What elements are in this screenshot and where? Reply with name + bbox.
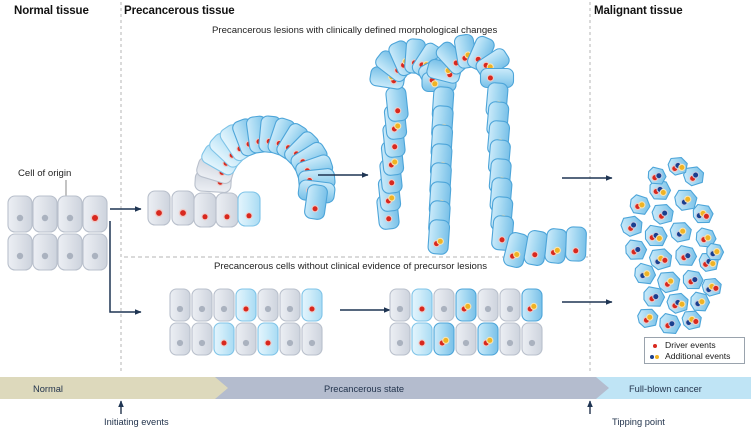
normal-cell xyxy=(83,234,107,270)
driver-event-dot xyxy=(310,307,315,312)
epithelial-cell xyxy=(412,289,432,321)
epithelial-cell xyxy=(390,323,410,355)
tumour-cell xyxy=(674,189,697,210)
additional-event-dot xyxy=(465,304,470,309)
epithelial-cell xyxy=(478,289,498,321)
nucleus xyxy=(287,340,293,346)
driver-event-dot xyxy=(266,341,271,346)
tumour-cell xyxy=(628,194,652,216)
normal-cell xyxy=(58,234,82,270)
tumour-cell xyxy=(644,225,668,247)
driver-event-dot xyxy=(488,76,493,81)
marker-label-tipping-point: Tipping point xyxy=(612,417,665,427)
epithelial-cell xyxy=(523,230,549,267)
driver-event-dot xyxy=(225,214,230,219)
epithelial-cell xyxy=(170,289,190,321)
tumour-cell xyxy=(651,203,675,225)
normal-tissue-group xyxy=(8,196,107,270)
epithelial-cell xyxy=(236,323,256,355)
tumour-cell xyxy=(692,204,713,224)
lesion-cell xyxy=(172,191,194,225)
nucleus xyxy=(441,306,447,312)
additional-event-dot xyxy=(432,81,437,86)
nucleus xyxy=(177,340,183,346)
additional-event-dots-icon xyxy=(649,352,662,361)
nucleus xyxy=(485,306,491,312)
tumour-cell xyxy=(637,308,659,328)
nucleus xyxy=(199,340,205,346)
diagram-svg xyxy=(0,0,751,433)
nucleus xyxy=(177,306,183,312)
normal-cell xyxy=(8,196,32,232)
legend-item-driver-events: Driver events xyxy=(649,340,740,351)
legend-box: Driver events Additional events xyxy=(644,337,745,364)
nucleus xyxy=(397,306,403,312)
epithelial-cell xyxy=(390,289,410,321)
timeline-label-precancerous: Precancerous state xyxy=(324,384,404,394)
epithelial-cell xyxy=(434,289,454,321)
header-precancerous-tissue: Precancerous tissue xyxy=(124,5,235,17)
epithelial-cell xyxy=(565,227,586,262)
driver-event-dot-icon xyxy=(649,341,662,350)
tumour-cell xyxy=(658,313,682,335)
epithelial-cell xyxy=(236,289,256,321)
legend-item-additional-events: Additional events xyxy=(649,351,740,362)
epithelial-cell xyxy=(280,323,300,355)
epithelial-cell xyxy=(385,86,408,122)
normal-cell xyxy=(33,234,57,270)
epithelial-cell xyxy=(216,193,238,227)
normal-cell xyxy=(33,196,57,232)
epithelial-cell xyxy=(258,323,278,355)
header-normal-tissue: Normal tissue xyxy=(14,5,89,17)
label-cell-of-origin: Cell of origin xyxy=(18,168,71,179)
tumour-cell xyxy=(667,156,688,176)
marker-label-initiating-events: Initiating events xyxy=(104,417,169,427)
epithelial-cell xyxy=(304,184,329,220)
epithelial-cell xyxy=(214,323,234,355)
section-dividers xyxy=(121,2,590,374)
nucleus xyxy=(221,306,227,312)
additional-event-dot xyxy=(531,304,536,309)
caption-bottom-pathway: Precancerous cells without clinical evid… xyxy=(214,261,487,272)
additional-event-dot xyxy=(443,338,448,343)
header-malignant-tissue: Malignant tissue xyxy=(594,5,683,17)
lesion-cell xyxy=(148,191,170,225)
arrow-to-bottom-pathway xyxy=(110,221,141,312)
timeline-label-normal: Normal xyxy=(33,384,63,394)
epithelial-cell xyxy=(428,219,450,254)
epithelial-cell xyxy=(500,289,520,321)
branch-arrows xyxy=(110,209,141,312)
epithelial-cell xyxy=(192,323,212,355)
legend-label-additional-events: Additional events xyxy=(665,351,730,362)
legend-label-driver-events: Driver events xyxy=(665,340,716,351)
nucleus xyxy=(265,306,271,312)
timeline-label-full-blown-cancer: Full-blown cancer xyxy=(629,384,702,394)
progression-timeline xyxy=(0,377,751,414)
timeline-segment-precancerous xyxy=(215,377,610,399)
driver-event-dot xyxy=(247,213,252,218)
caption-top-pathway: Precancerous lesions with clinically def… xyxy=(212,25,497,36)
driver-event-dot xyxy=(420,307,425,312)
normal-cell xyxy=(58,196,82,232)
precancerous-lesion-arch-driver xyxy=(194,115,336,227)
epithelial-cell xyxy=(302,289,322,321)
epithelial-cell xyxy=(544,228,567,264)
epithelial-cell xyxy=(478,323,498,355)
epithelial-cell xyxy=(456,323,476,355)
tumour-cell xyxy=(666,292,690,315)
nucleus xyxy=(287,306,293,312)
epithelial-cell xyxy=(192,289,212,321)
driver-event-dot xyxy=(222,341,227,346)
epithelial-cell xyxy=(280,289,300,321)
tumour-cell xyxy=(674,245,698,267)
driver-event-dot xyxy=(203,214,208,219)
tumour-cell xyxy=(625,240,647,260)
driver-event-dot xyxy=(420,341,425,346)
epithelial-cell xyxy=(456,289,476,321)
precancerous-lesion-arch-additional xyxy=(369,34,587,269)
epithelial-cell xyxy=(434,323,454,355)
epithelial-cell xyxy=(302,323,322,355)
precancerous-flat-cells-additional xyxy=(390,289,542,355)
tumour-cell xyxy=(682,270,704,290)
cell-of-origin xyxy=(83,196,107,232)
tumour-cell xyxy=(620,214,645,238)
driver-event-dot xyxy=(244,307,249,312)
nucleus xyxy=(507,340,513,346)
tumour-cell xyxy=(681,310,702,330)
nucleus xyxy=(309,340,315,346)
epithelial-cell xyxy=(522,289,542,321)
top-seed-cells xyxy=(148,191,194,225)
diagram-canvas: Normal tissue Precancerous tissue Malign… xyxy=(0,0,751,433)
epithelial-cell xyxy=(170,323,190,355)
epithelial-cell xyxy=(194,193,216,227)
precancerous-flat-cells-driver xyxy=(170,289,322,355)
tumour-cell xyxy=(669,221,692,242)
nucleus xyxy=(507,306,513,312)
nucleus xyxy=(397,340,403,346)
nucleus xyxy=(199,306,205,312)
nucleus xyxy=(529,340,535,346)
malignant-tumour-cluster xyxy=(620,156,725,335)
epithelial-cell xyxy=(238,192,260,226)
epithelial-cell xyxy=(522,323,542,355)
additional-event-dot xyxy=(487,338,492,343)
nucleus xyxy=(463,340,469,346)
normal-cell xyxy=(8,234,32,270)
nucleus xyxy=(243,340,249,346)
epithelial-cell xyxy=(258,289,278,321)
epithelial-cell xyxy=(412,323,432,355)
epithelial-cell xyxy=(500,323,520,355)
epithelial-cell xyxy=(214,289,234,321)
